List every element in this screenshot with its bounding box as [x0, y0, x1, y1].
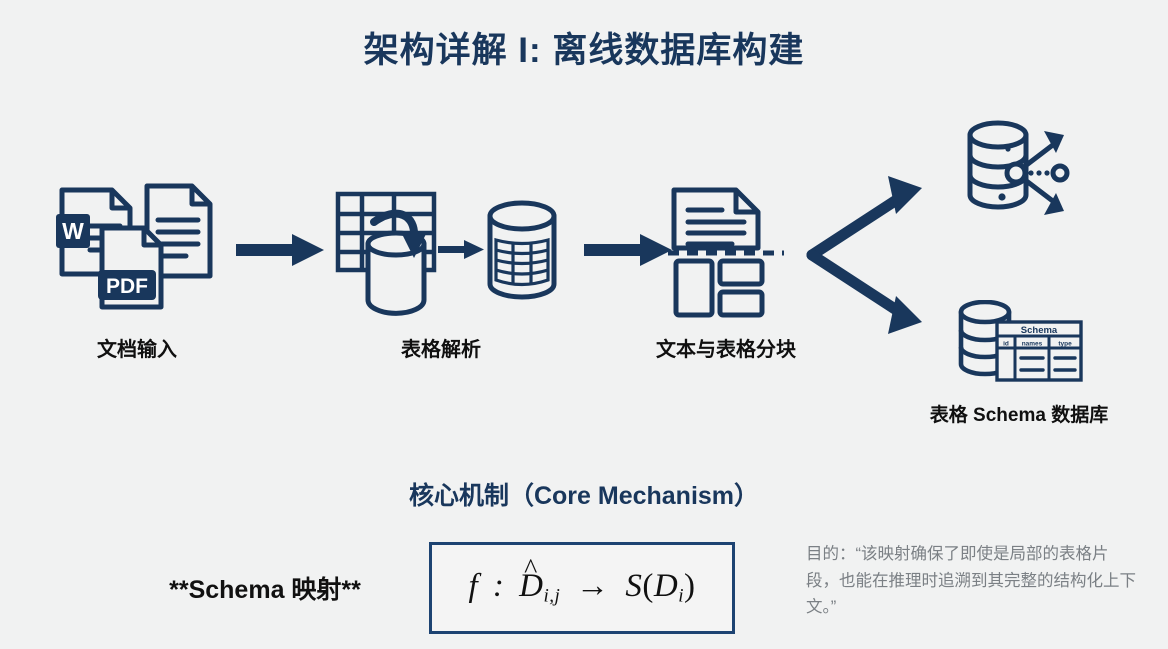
- text-knowledge-base-icon-group: [962, 117, 1080, 225]
- formula-domain-subscript: i,j: [543, 586, 560, 607]
- output-label-table-schema-database: 表格 Schema 数据库: [869, 400, 1168, 427]
- stage-label-table-parsing: 表格解析: [311, 333, 571, 362]
- table-schema-database-icon-group: Schema id names type: [955, 300, 1087, 385]
- stage-table-parsing[interactable]: [334, 188, 560, 323]
- schema-mapping-formula: f : ^Di,j → S(Di): [468, 568, 695, 607]
- arrow-right-icon: [584, 234, 672, 266]
- core-mechanism-note: 目的：“该映射确保了即使是局部的表格片段，也能在推理时追溯到其完整的结构化上下文…: [806, 541, 1136, 621]
- fork-arrow-icon: [812, 176, 922, 334]
- connector-arrow-2: [584, 230, 676, 272]
- formula-codomain-symbol: D: [654, 568, 678, 604]
- slide-canvas: 架构详解 I: 离线数据库构建 W: [0, 0, 1168, 649]
- schema-column-type: type: [1058, 341, 1072, 348]
- arrow-right-icon: [438, 240, 484, 259]
- chunking-icon-group: [666, 186, 786, 320]
- output-table-schema-database[interactable]: Schema id names type: [955, 300, 1087, 390]
- formula-colon: :: [493, 568, 505, 604]
- formula-domain-hat: ^: [524, 554, 538, 586]
- formula-codomain-function: S: [625, 568, 642, 604]
- document-input-icon-group: W PDF: [52, 182, 242, 312]
- connector-fork-arrows: [800, 170, 940, 340]
- schema-table-header: Schema: [1021, 325, 1058, 336]
- formula-function: f: [468, 568, 478, 604]
- pipeline-diagram: W PDF: [0, 0, 1168, 430]
- schema-table-icon: Schema id names type: [997, 322, 1081, 380]
- block-right-top-icon: [720, 261, 762, 284]
- formula-arrow: →: [576, 568, 610, 604]
- schema-column-id: id: [1003, 341, 1009, 348]
- block-left-icon: [676, 261, 712, 315]
- pdf-badge-label: PDF: [106, 275, 148, 298]
- formula-domain: ^D: [519, 568, 543, 605]
- core-mechanism-heading: 核心机制（Core Mechanism）: [0, 476, 1168, 512]
- connector-arrow-1: [236, 230, 328, 272]
- block-right-bottom-icon: [720, 292, 762, 315]
- stage-label-document-input: 文档输入: [7, 333, 267, 362]
- schema-column-names: names: [1022, 341, 1043, 348]
- stage-document-input[interactable]: W PDF: [52, 182, 242, 317]
- table-parsing-icon-group: [334, 188, 560, 318]
- stage-text-table-chunking[interactable]: [666, 186, 786, 325]
- schema-mapping-label: **Schema 映射**: [100, 570, 430, 606]
- output-text-knowledge-base[interactable]: [962, 117, 1080, 230]
- word-badge-label: W: [62, 218, 84, 244]
- arrow-right-icon: [236, 234, 324, 266]
- formula-box: f : ^Di,j → S(Di): [429, 542, 735, 634]
- document-chunk-icon: [674, 190, 758, 248]
